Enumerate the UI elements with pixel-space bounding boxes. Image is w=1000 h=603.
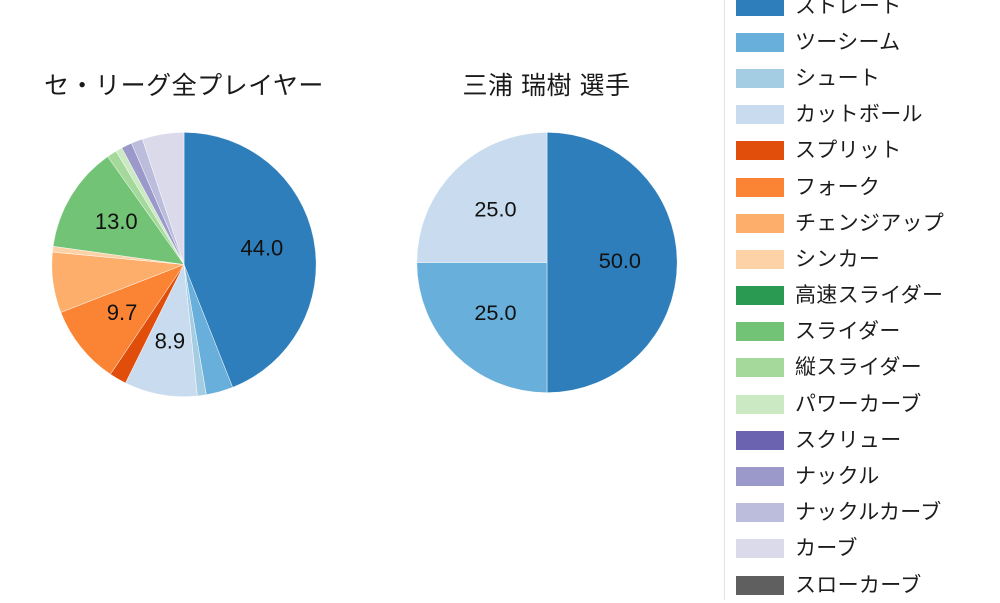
legend-item-label: ツーシーム xyxy=(795,32,900,53)
legend-color-swatch xyxy=(736,69,784,88)
league-average-pie-panel: セ・リーグ全プレイヤー 44.08.99.713.0 xyxy=(0,0,368,600)
league-average-pie-chart: 44.08.99.713.0 xyxy=(51,131,318,398)
legend-item-label: スライダー xyxy=(795,321,901,342)
pie-slice-value-label: 8.9 xyxy=(155,328,186,353)
legend-color-swatch xyxy=(736,33,784,52)
legend-item[interactable]: シンカー xyxy=(736,241,1000,277)
legend-item-label: スプリット xyxy=(795,140,902,161)
legend-item[interactable]: パワーカーブ xyxy=(736,386,1000,422)
legend-item[interactable]: カットボール xyxy=(736,97,1000,133)
legend-item-label: 縦スライダー xyxy=(795,357,922,378)
legend-color-swatch xyxy=(736,431,784,450)
pitch-type-legend: ストレートツーシームシュートカットボールスプリットフォークチェンジアップシンカー… xyxy=(725,0,1000,600)
legend-color-swatch xyxy=(736,322,784,341)
legend-item[interactable]: 高速スライダー xyxy=(736,278,1000,314)
legend-color-swatch xyxy=(736,286,784,305)
legend-item-label: ナックルカーブ xyxy=(795,502,942,523)
legend-color-swatch xyxy=(736,503,784,522)
pie-slice-value-label: 9.7 xyxy=(107,300,138,325)
legend-color-swatch xyxy=(736,178,784,197)
legend-item[interactable]: チェンジアップ xyxy=(736,205,1000,241)
player-pie-svg: 50.025.025.0 xyxy=(415,131,678,394)
legend-items: ストレートツーシームシュートカットボールスプリットフォークチェンジアップシンカー… xyxy=(736,0,1000,603)
legend-item[interactable]: ストレート xyxy=(736,0,1000,24)
charts-area: セ・リーグ全プレイヤー 44.08.99.713.0 三浦 瑞樹 選手 50.0… xyxy=(0,0,725,600)
legend-item[interactable]: スクリュー xyxy=(736,422,1000,458)
legend-color-swatch xyxy=(736,214,784,233)
legend-item[interactable]: スローカーブ xyxy=(736,567,1000,603)
legend-item[interactable]: 縦スライダー xyxy=(736,350,1000,386)
legend-item-label: スローカーブ xyxy=(795,575,922,596)
legend-item-label: シュート xyxy=(795,68,880,89)
player-pie-panel: 三浦 瑞樹 選手 50.025.025.0 xyxy=(368,0,725,600)
pie-slice-value-label: 44.0 xyxy=(240,235,283,260)
legend-color-swatch xyxy=(736,467,784,486)
legend-item-label: パワーカーブ xyxy=(795,394,922,415)
pie-slice-value-label: 13.0 xyxy=(95,209,138,234)
legend-color-swatch xyxy=(736,358,784,377)
legend-item-label: ストレート xyxy=(795,0,902,17)
legend-item-label: カーブ xyxy=(795,538,858,559)
league-average-pie-title: セ・リーグ全プレイヤー xyxy=(0,66,368,102)
legend-item[interactable]: ナックルカーブ xyxy=(736,495,1000,531)
legend-item[interactable]: ナックル xyxy=(736,458,1000,494)
pie-slice[interactable] xyxy=(416,263,546,393)
league-average-pie-svg: 44.08.99.713.0 xyxy=(51,131,318,398)
pie-slice-value-label: 50.0 xyxy=(598,248,640,273)
legend-item-label: 高速スライダー xyxy=(795,285,943,306)
legend-item[interactable]: シュート xyxy=(736,60,1000,96)
legend-item-label: シンカー xyxy=(795,249,880,270)
legend-item-label: スクリュー xyxy=(795,430,902,451)
pie-slice-value-label: 25.0 xyxy=(474,197,516,222)
legend-color-swatch xyxy=(736,141,784,160)
pitch-type-distribution-figure: セ・リーグ全プレイヤー 44.08.99.713.0 三浦 瑞樹 選手 50.0… xyxy=(0,0,1000,600)
legend-color-swatch xyxy=(736,250,784,269)
legend-color-swatch xyxy=(736,105,784,124)
legend-item[interactable]: スプリット xyxy=(736,133,1000,169)
legend-item[interactable]: カーブ xyxy=(736,531,1000,567)
legend-item-label: フォーク xyxy=(795,177,880,198)
legend-item[interactable]: フォーク xyxy=(736,169,1000,205)
legend-item[interactable]: スライダー xyxy=(736,314,1000,350)
pie-slice-value-label: 25.0 xyxy=(474,300,516,325)
player-pie-title: 三浦 瑞樹 選手 xyxy=(368,66,725,102)
legend-item-label: チェンジアップ xyxy=(795,213,944,234)
legend-item[interactable]: ツーシーム xyxy=(736,24,1000,60)
legend-color-swatch xyxy=(736,395,784,414)
legend-color-swatch xyxy=(736,0,784,16)
legend-color-swatch xyxy=(736,576,784,595)
legend-item-label: カットボール xyxy=(795,104,923,125)
legend-item-label: ナックル xyxy=(795,466,880,487)
player-pie-chart: 50.025.025.0 xyxy=(415,131,678,394)
legend-color-swatch xyxy=(736,539,784,558)
